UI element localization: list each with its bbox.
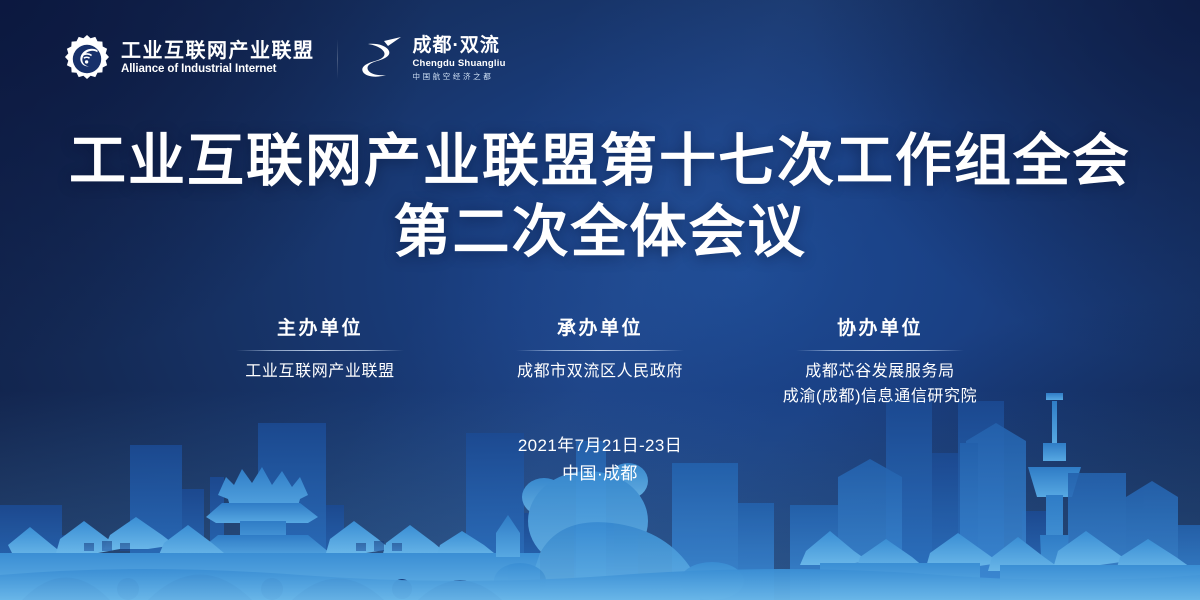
skyline-silhouette — [0, 385, 1200, 600]
conference-banner: 工业互联网产业联盟 Alliance of Industrial Interne… — [0, 0, 1200, 600]
title-line-1: 工业互联网产业联盟第十七次工作组全会 — [0, 126, 1200, 197]
organizer-role-label: 承办单位 — [460, 318, 740, 341]
swoosh-plane-icon — [360, 35, 404, 83]
logo-divider — [337, 39, 338, 79]
event-date: 2021年7月21日-23日 — [0, 432, 1200, 460]
organizer-name: 工业互联网产业联盟 — [180, 360, 460, 385]
title-line-2: 第二次全体会议 — [0, 197, 1200, 268]
main-title: 工业互联网产业联盟第十七次工作组全会 第二次全体会议 — [0, 126, 1200, 267]
organizer-column-coorganizer: 协办单位 成都芯谷发展服务局 成渝(成都)信息通信研究院 — [740, 318, 1020, 409]
alliance-name-cn: 工业互联网产业联盟 — [121, 41, 315, 62]
organizer-divider — [796, 350, 964, 351]
logo-bar: 工业互联网产业联盟 Alliance of Industrial Interne… — [62, 34, 506, 84]
shuangliu-logo: 成都·双流 Chengdu Shuangliu 中国航空经济之都 — [360, 35, 506, 83]
organizer-divider — [236, 350, 404, 351]
alliance-logo: 工业互联网产业联盟 Alliance of Industrial Interne… — [62, 34, 315, 84]
organizer-column-undertaker: 承办单位 成都市双流区人民政府 — [460, 318, 740, 409]
organizer-column-host: 主办单位 工业互联网产业联盟 — [180, 318, 460, 409]
organizer-divider — [516, 350, 684, 351]
gear-wifi-icon — [62, 34, 112, 84]
alliance-name-en: Alliance of Industrial Internet — [121, 62, 315, 76]
shuangliu-tagline: 中国航空经济之都 — [413, 71, 506, 82]
organizer-role-label: 主办单位 — [180, 318, 460, 341]
organizer-role-label: 协办单位 — [740, 318, 1020, 341]
organizers-section: 主办单位 工业互联网产业联盟 承办单位 成都市双流区人民政府 协办单位 成都芯谷… — [0, 318, 1200, 409]
organizer-name: 成都芯谷发展服务局 — [740, 360, 1020, 385]
event-details: 2021年7月21日-23日 中国·成都 — [0, 432, 1200, 487]
shuangliu-name-cn: 成都·双流 — [413, 36, 506, 57]
shuangliu-name-en: Chengdu Shuangliu — [413, 57, 506, 71]
organizer-name: 成都市双流区人民政府 — [460, 360, 740, 385]
event-location: 中国·成都 — [0, 460, 1200, 488]
organizer-name: 成渝(成都)信息通信研究院 — [740, 385, 1020, 410]
